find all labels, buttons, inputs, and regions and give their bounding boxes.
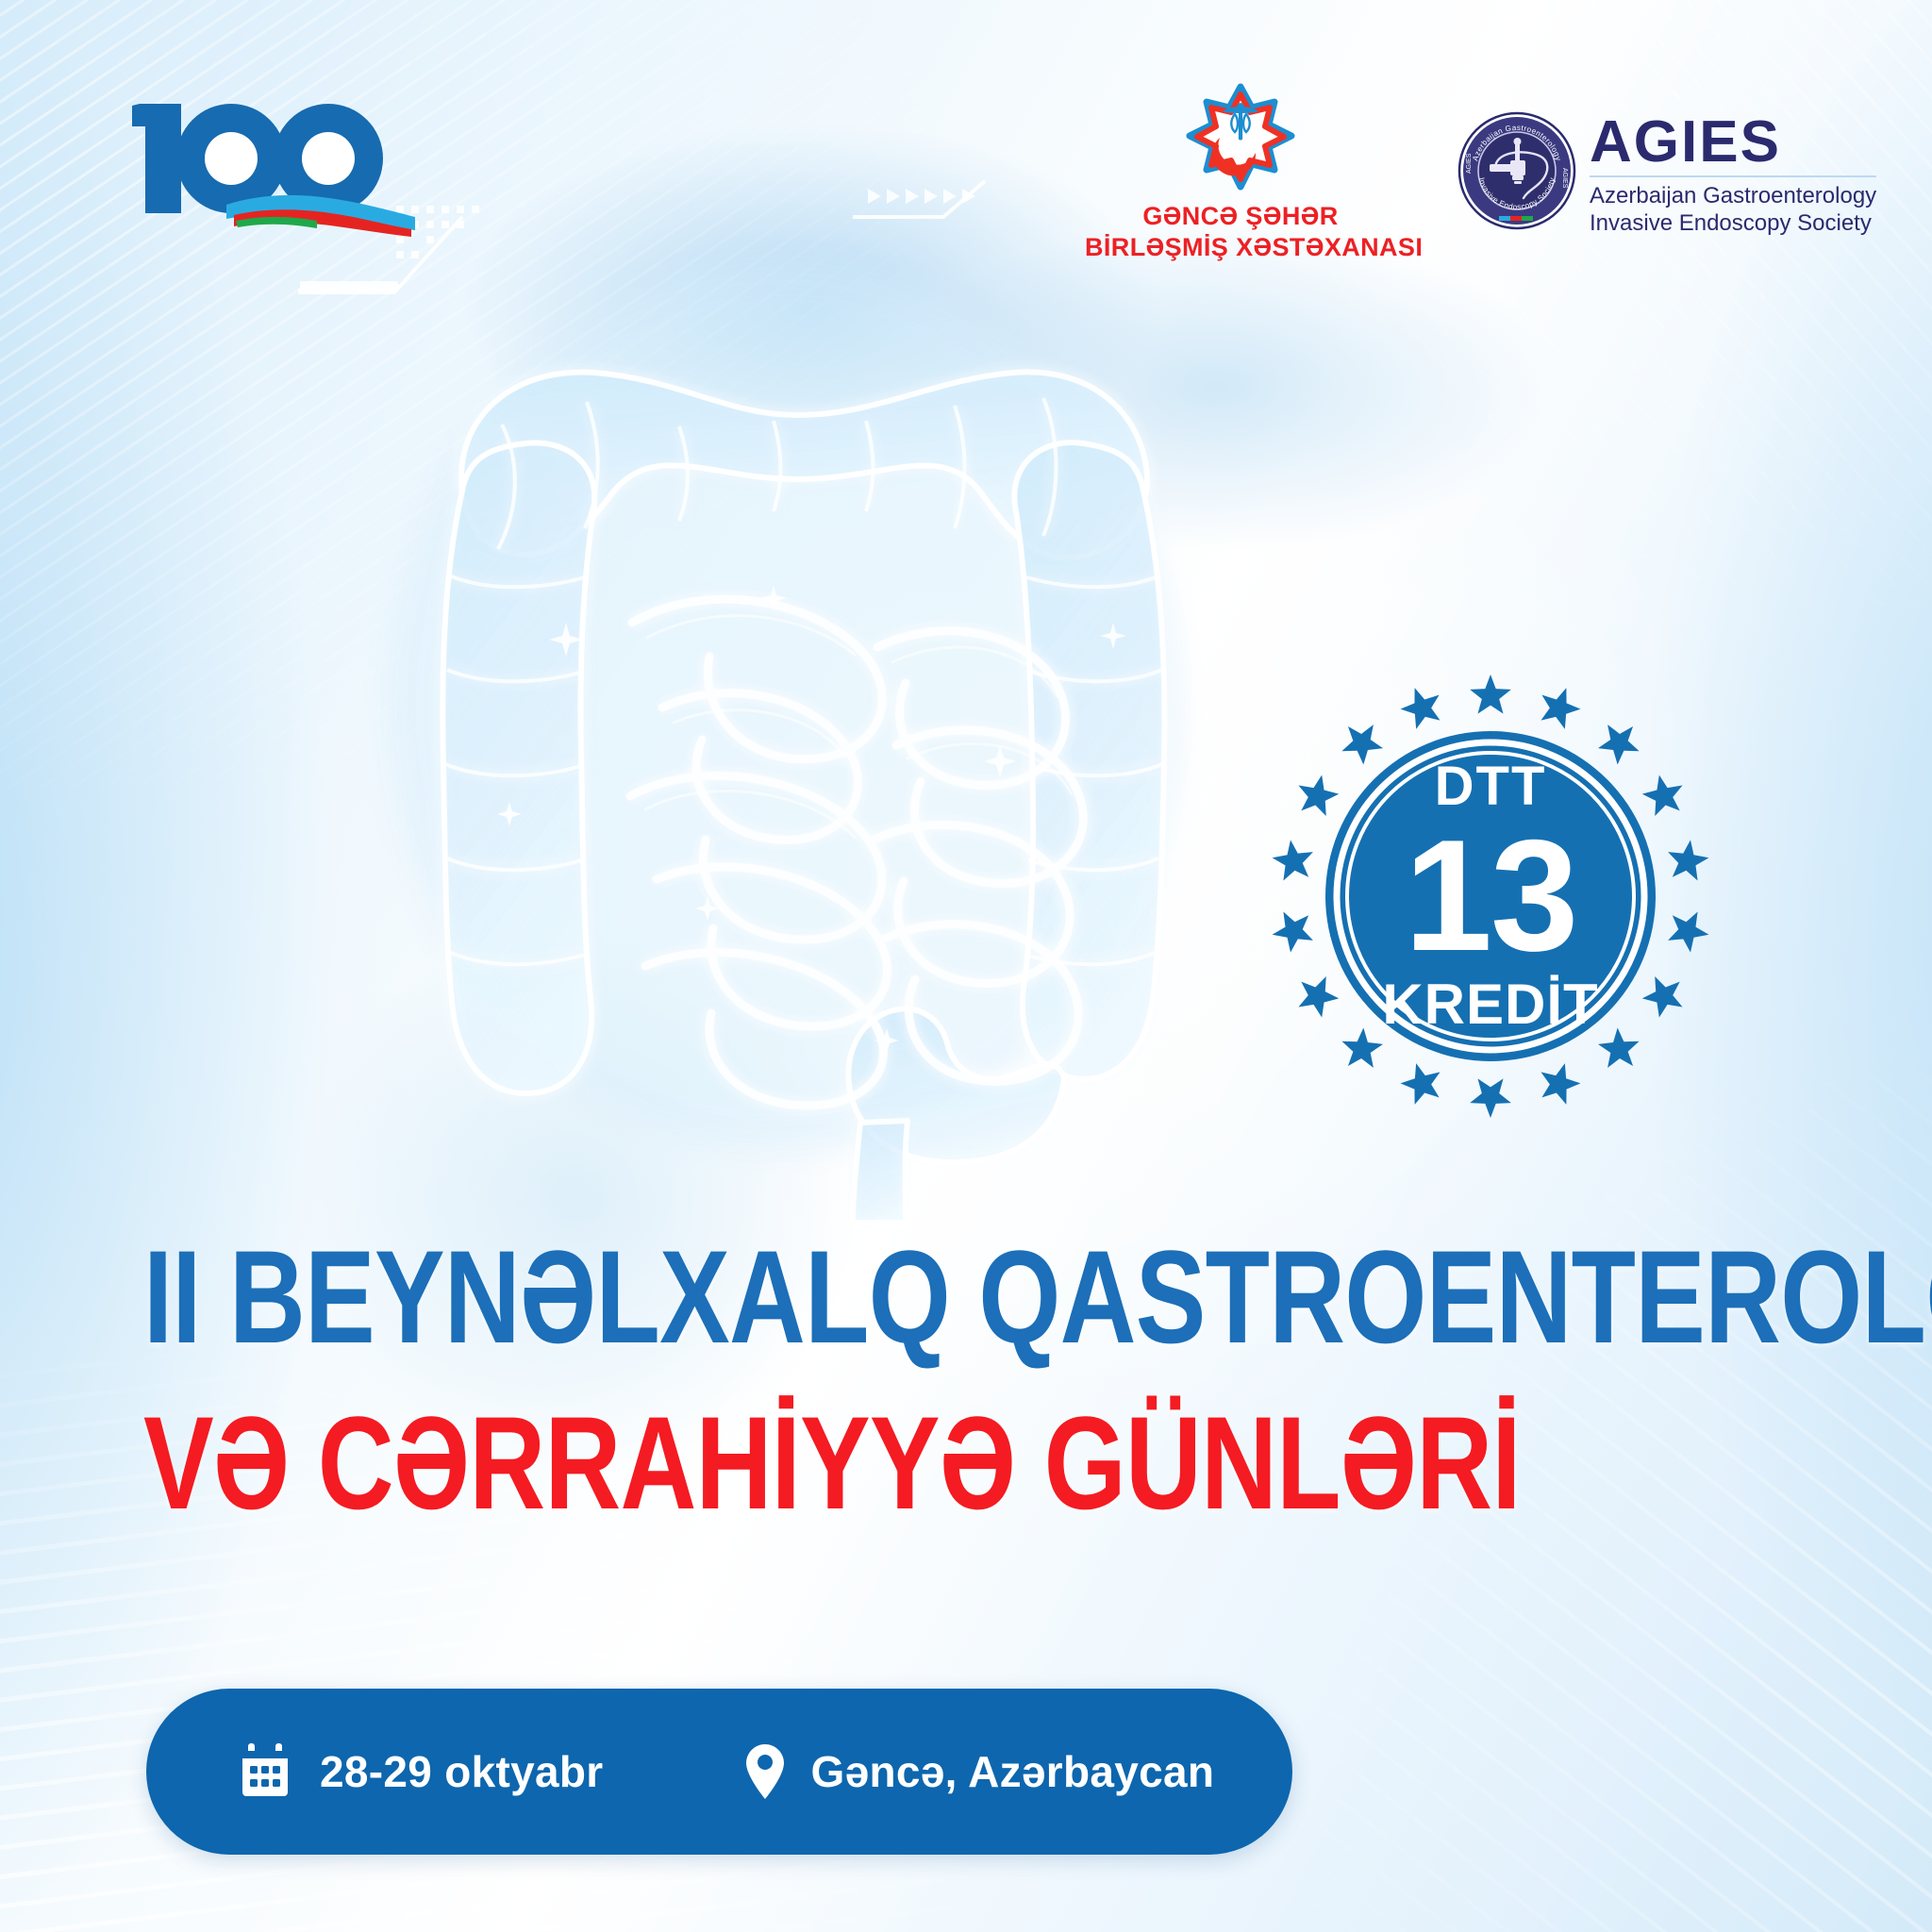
hospital-name-line1: GƏNCƏ ŞƏHƏR bbox=[1085, 202, 1396, 231]
credit-badge: DTT 13 KREDİT bbox=[1255, 660, 1726, 1132]
calendar-icon bbox=[239, 1743, 291, 1800]
event-date-group: 28-29 oktyabr bbox=[239, 1743, 604, 1800]
hospital-name-line2: BİRLƏŞMİŞ XƏSTƏXANASI bbox=[1085, 233, 1396, 262]
agies-divider bbox=[1590, 175, 1876, 177]
event-location-group: Gəncə, Azərbaycan bbox=[745, 1743, 1215, 1800]
agies-subtitle-line2: Invasive Endoscopy Society bbox=[1590, 209, 1876, 237]
svg-text:AGIES: AGIES bbox=[1561, 168, 1568, 189]
event-info-pill: 28-29 oktyabr Gəncə, Azərbaycan bbox=[146, 1689, 1292, 1855]
hospital-logo: GƏNCƏ ŞƏHƏR BİRLƏŞMİŞ XƏSTƏXANASI bbox=[1085, 83, 1396, 272]
event-location-label: Gəncə, Azərbaycan bbox=[811, 1746, 1215, 1797]
event-date-label: 28-29 oktyabr bbox=[320, 1746, 604, 1797]
event-title: II BEYNƏLXALQ QASTROENTEROLOJİ VƏ CƏRRAH… bbox=[143, 1231, 1804, 1529]
badge-value: 13 bbox=[1405, 816, 1577, 974]
agies-wordmark: AGIES bbox=[1590, 115, 1876, 171]
intestine-illustration bbox=[283, 179, 1302, 1245]
event-title-line2: VƏ CƏRRAHİYYƏ GÜNLƏRİ bbox=[143, 1397, 1472, 1529]
poster-canvas: GƏNCƏ ŞƏHƏR BİRLƏŞMİŞ XƏSTƏXANASI Azerba… bbox=[0, 0, 1932, 1932]
badge-bottom-label: KREDİT bbox=[1382, 976, 1598, 1033]
agies-seal-icon: Azerbaijan Gastroenterology Invasive End… bbox=[1457, 111, 1576, 230]
agies-subtitle-line1: Azerbaijan Gastroenterology bbox=[1590, 182, 1876, 209]
anniversary-100-logo bbox=[132, 74, 415, 239]
agies-logo: Azerbaijan Gastroenterology Invasive End… bbox=[1457, 111, 1901, 248]
event-title-line1: II BEYNƏLXALQ QASTROENTEROLOJİ bbox=[143, 1231, 1472, 1363]
hospital-emblem-icon bbox=[1184, 83, 1297, 196]
map-pin-icon bbox=[745, 1743, 785, 1800]
svg-text:AGIES: AGIES bbox=[1466, 153, 1473, 174]
